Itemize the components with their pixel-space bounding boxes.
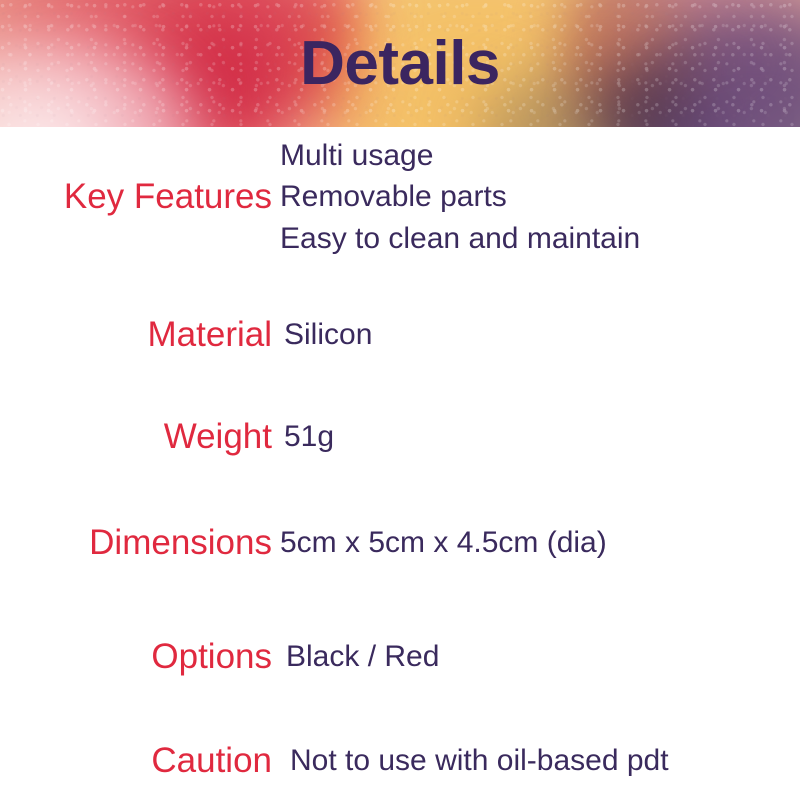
spec-value-caution: Not to use with oil-based pdt: [272, 740, 800, 781]
spec-label-key-features: Key Features: [0, 177, 272, 216]
spec-value-dimensions: 5cm x 5cm x 4.5cm (dia): [272, 522, 800, 563]
page-title: Details: [0, 0, 800, 127]
spec-label-weight: Weight: [0, 417, 272, 456]
spec-row-material: Material Silicon: [0, 305, 800, 365]
spec-value-weight: 51g: [272, 416, 800, 457]
spec-value-material: Silicon: [272, 314, 800, 355]
spec-row-weight: Weight 51g: [0, 407, 800, 467]
spec-label-caution: Caution: [0, 741, 272, 780]
specification-table: Key Features Multi usage Removable parts…: [0, 127, 800, 800]
spec-row-caution: Caution Not to use with oil-based pdt: [0, 731, 800, 791]
spec-row-key-features: Key Features Multi usage Removable parts…: [0, 127, 800, 267]
spec-label-dimensions: Dimensions: [0, 523, 272, 562]
spec-value-options: Black / Red: [272, 636, 800, 677]
spec-label-material: Material: [0, 315, 272, 354]
spec-label-options: Options: [0, 637, 272, 676]
spec-row-dimensions: Dimensions 5cm x 5cm x 4.5cm (dia): [0, 513, 800, 573]
header-banner: Details: [0, 0, 800, 127]
spec-row-options: Options Black / Red: [0, 627, 800, 687]
spec-value-key-features: Multi usage Removable parts Easy to clea…: [272, 135, 800, 259]
